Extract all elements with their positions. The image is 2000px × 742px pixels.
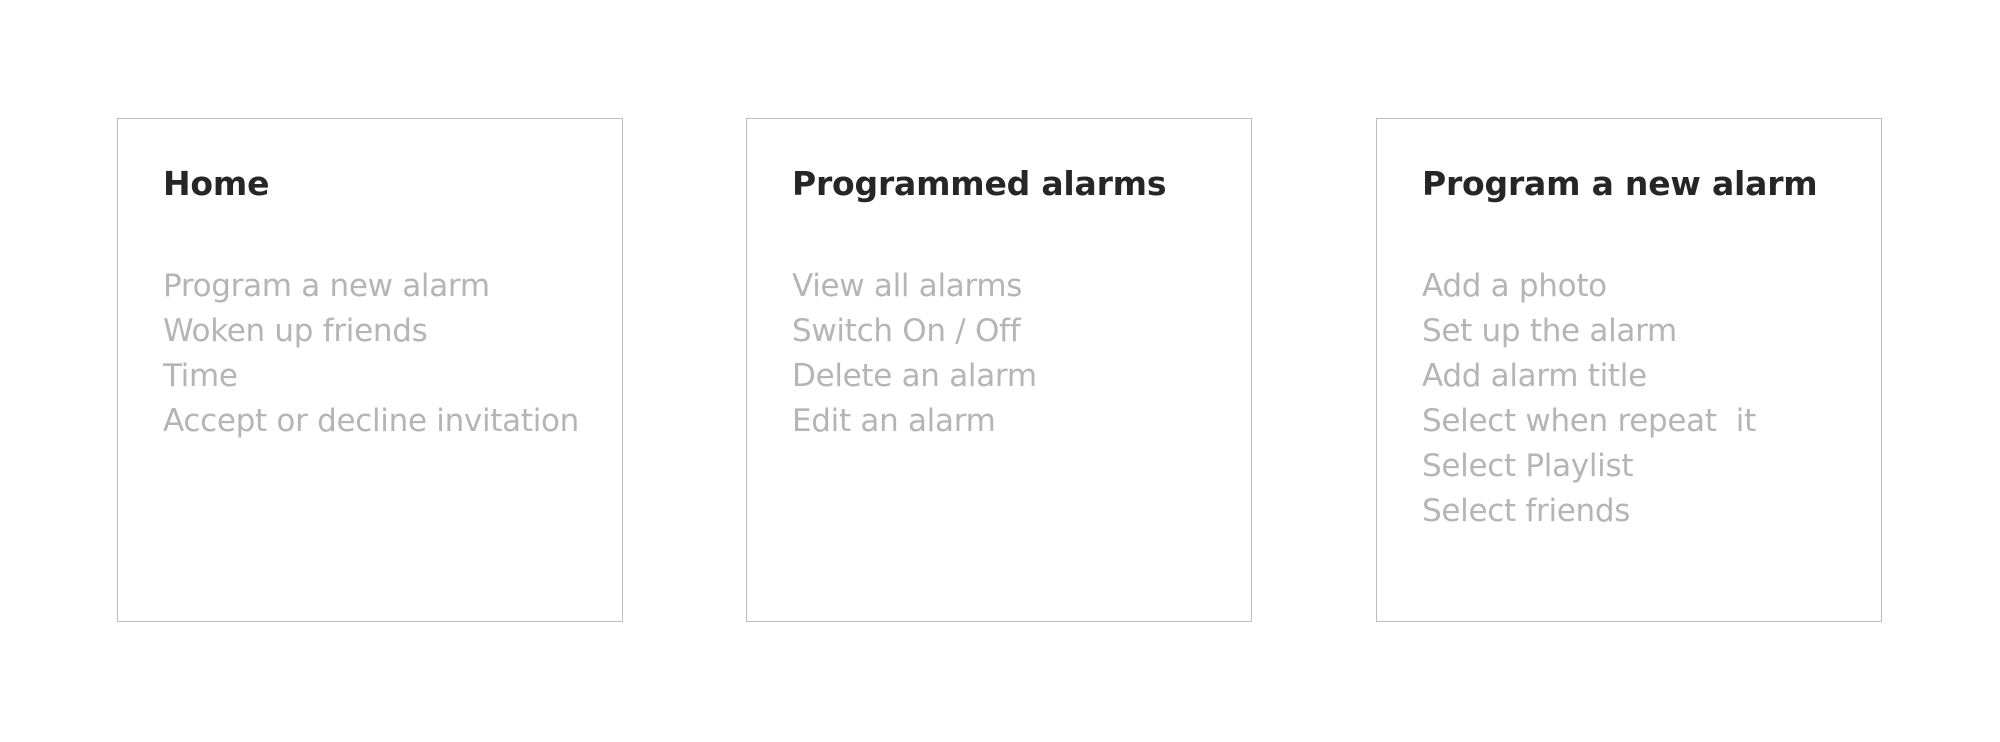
list-item[interactable]: Accept or decline invitation bbox=[163, 399, 592, 444]
list-item[interactable]: Switch On / Off bbox=[792, 309, 1221, 354]
list-item[interactable]: Select friends bbox=[1422, 489, 1851, 534]
card-title: Programmed alarms bbox=[792, 164, 1221, 204]
card-home: Home Program a new alarm Woken up friend… bbox=[117, 118, 623, 622]
list-item[interactable]: Add alarm title bbox=[1422, 354, 1851, 399]
sitemap-board: Home Program a new alarm Woken up friend… bbox=[0, 0, 2000, 742]
list-item[interactable]: Time bbox=[163, 354, 592, 399]
list-item[interactable]: Select when repeat it bbox=[1422, 399, 1851, 444]
card-programmed-alarms: Programmed alarms View all alarms Switch… bbox=[746, 118, 1252, 622]
card-title: Home bbox=[163, 164, 592, 204]
list-item[interactable]: Program a new alarm bbox=[163, 264, 592, 309]
list-item[interactable]: Add a photo bbox=[1422, 264, 1851, 309]
list-item[interactable]: View all alarms bbox=[792, 264, 1221, 309]
list-item[interactable]: Select Playlist bbox=[1422, 444, 1851, 489]
list-item[interactable]: Delete an alarm bbox=[792, 354, 1221, 399]
card-item-list: View all alarms Switch On / Off Delete a… bbox=[792, 264, 1221, 444]
list-item[interactable]: Woken up friends bbox=[163, 309, 592, 354]
list-item[interactable]: Set up the alarm bbox=[1422, 309, 1851, 354]
card-item-list: Add a photo Set up the alarm Add alarm t… bbox=[1422, 264, 1851, 534]
card-program-a-new-alarm: Program a new alarm Add a photo Set up t… bbox=[1376, 118, 1882, 622]
card-item-list: Program a new alarm Woken up friends Tim… bbox=[163, 264, 592, 444]
list-item[interactable]: Edit an alarm bbox=[792, 399, 1221, 444]
card-title: Program a new alarm bbox=[1422, 164, 1851, 204]
